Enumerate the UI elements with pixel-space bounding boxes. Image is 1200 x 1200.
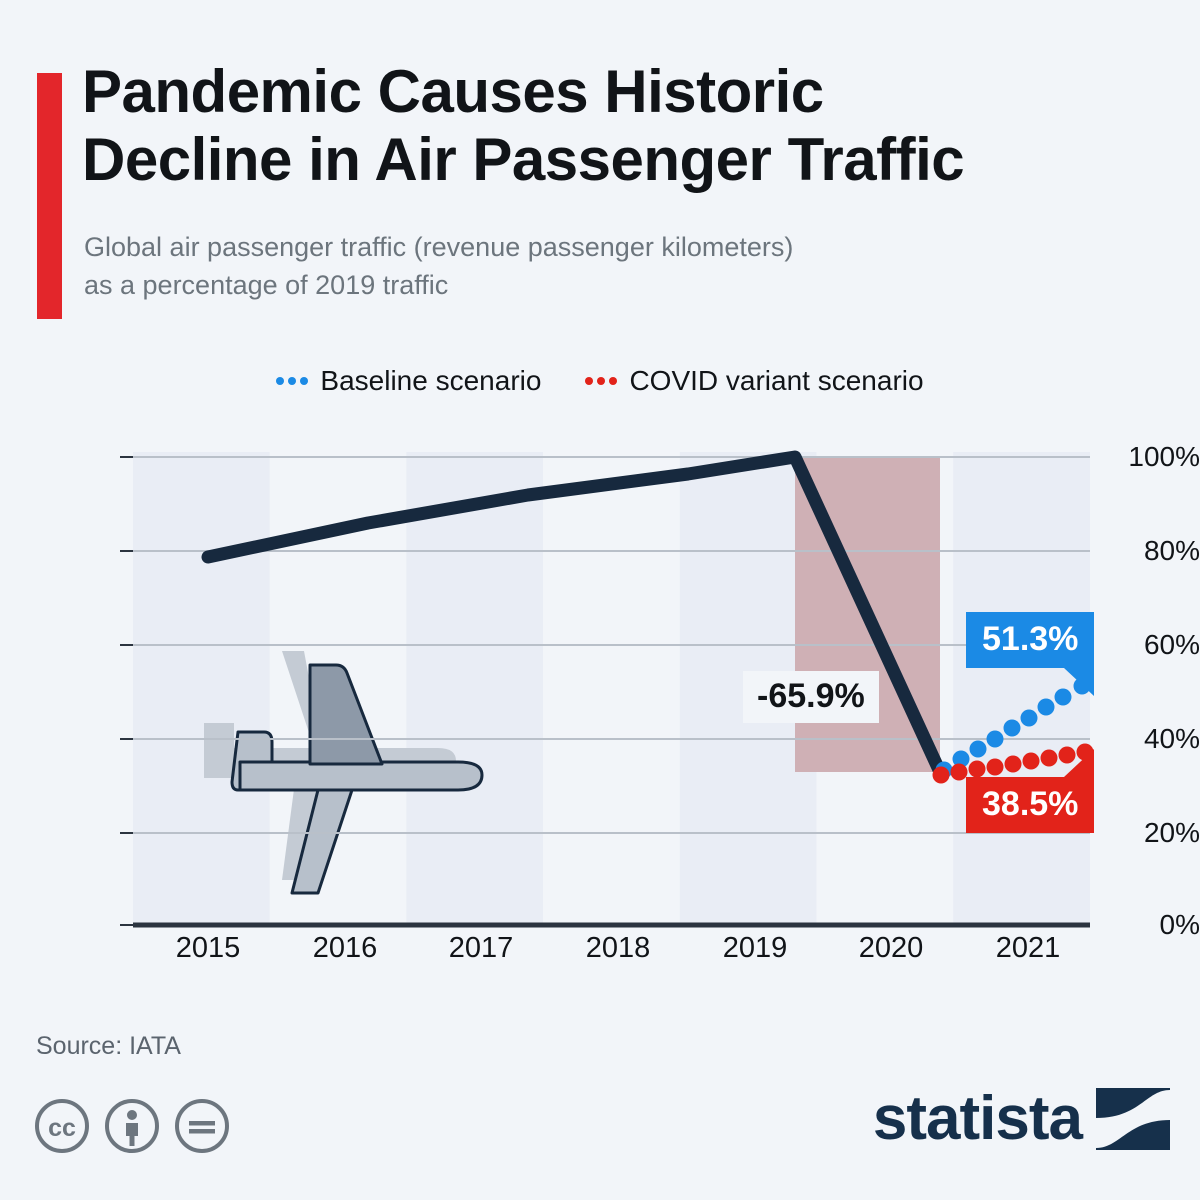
creative-commons-license-icons: cc (34, 1098, 230, 1154)
xtick-label-2021: 2021 (958, 932, 1098, 965)
xtick-label-2017: 2017 (411, 932, 551, 965)
callout-baseline-value: 51.3% (982, 620, 1078, 658)
ytick-label-0: 0% (1090, 909, 1200, 941)
ytick-label-100: 100% (1090, 441, 1200, 473)
statista-wordmark: statista (873, 1088, 1082, 1150)
callout-variant-tail (1064, 749, 1094, 777)
ytick-label-20: 20% (1090, 817, 1200, 849)
callout-variant-2021: 38.5% (966, 777, 1094, 833)
xtick-label-2015: 2015 (138, 932, 278, 965)
callout-variant-value: 38.5% (982, 785, 1078, 823)
statista-logo[interactable]: statista (873, 1088, 1170, 1150)
xtick-label-2019: 2019 (685, 932, 825, 965)
attribution-icon[interactable] (104, 1098, 160, 1154)
xtick-label-2020: 2020 (821, 932, 961, 965)
callout-decline: -65.9% (743, 671, 879, 723)
chart-plot-svg (0, 0, 1200, 1200)
y-axis-ticks (120, 457, 133, 925)
source-label: Source: IATA (36, 1032, 181, 1061)
callout-baseline-tail (1064, 668, 1094, 696)
ytick-label-40: 40% (1090, 723, 1200, 755)
line-chart: 100% 80% 60% 40% 20% 0% 2015 2016 2017 2… (0, 0, 1200, 1200)
column-bands (133, 452, 1090, 925)
statista-mark-icon (1096, 1088, 1170, 1150)
xtick-label-2018: 2018 (548, 932, 688, 965)
creative-commons-icon[interactable]: cc (34, 1098, 90, 1154)
ytick-label-60: 60% (1090, 629, 1200, 661)
no-derivatives-icon[interactable] (174, 1098, 230, 1154)
svg-text:cc: cc (48, 1114, 76, 1142)
ytick-label-80: 80% (1090, 535, 1200, 567)
xtick-label-2016: 2016 (275, 932, 415, 965)
callout-baseline-2021: 51.3% (966, 612, 1094, 668)
